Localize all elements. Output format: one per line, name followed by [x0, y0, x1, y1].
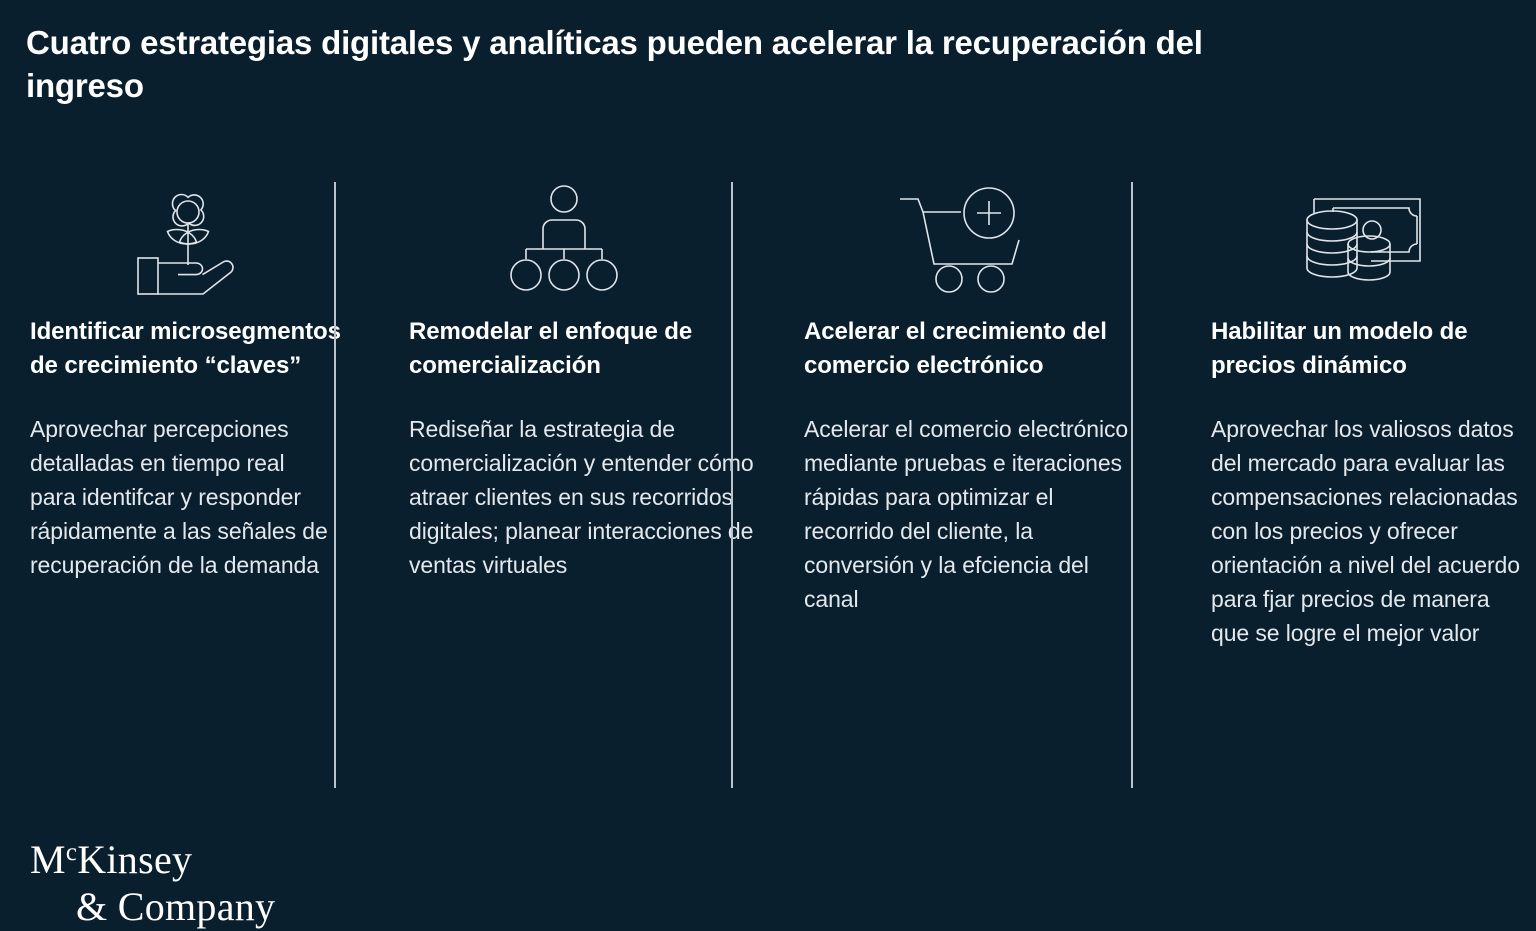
- org-chart-icon: [409, 182, 742, 314]
- card-body: Aprovechar los valiosos datos del mercad…: [1211, 412, 1531, 650]
- column-divider: [731, 182, 733, 788]
- strategy-columns: Identificar microsegmentos de crecimient…: [0, 182, 1536, 792]
- infographic-page: Cuatro estrategias digitales y analítica…: [0, 0, 1536, 931]
- strategy-card-2: Remodelar el enfoque de comercialización…: [370, 182, 770, 792]
- strategy-card-4: Habilitar un modelo de precios dinámico …: [1171, 182, 1536, 792]
- column-divider: [334, 182, 336, 788]
- card-heading: Habilitar un modelo de precios dinámico: [1211, 315, 1508, 383]
- card-body: Acelerar el comercio electrónico mediant…: [804, 412, 1134, 616]
- card-heading: Acelerar el crecimiento del comercio ele…: [804, 315, 1143, 383]
- column-divider: [1131, 182, 1133, 788]
- logo-line-1: McKinsey: [30, 837, 192, 882]
- card-heading: Identificar microsegmentos de crecimient…: [30, 315, 342, 383]
- shopping-cart-plus-icon: [804, 182, 1143, 314]
- strategy-card-3: Acelerar el crecimiento del comercio ele…: [770, 182, 1171, 792]
- card-body: Aprovechar percepciones detalladas en ti…: [30, 412, 330, 582]
- logo-line-2: & Company: [30, 883, 275, 930]
- mckinsey-logo: McKinsey & Company: [30, 836, 275, 930]
- strategy-card-1: Identificar microsegmentos de crecimient…: [0, 182, 370, 792]
- card-body: Rediseñar la estrategia de comercializac…: [409, 412, 761, 582]
- hand-holding-flower-icon: [30, 182, 342, 314]
- card-heading: Remodelar el enfoque de comercialización: [409, 315, 761, 383]
- money-coins-bill-icon: [1211, 182, 1508, 314]
- page-title: Cuatro estrategias digitales y analítica…: [26, 22, 1206, 108]
